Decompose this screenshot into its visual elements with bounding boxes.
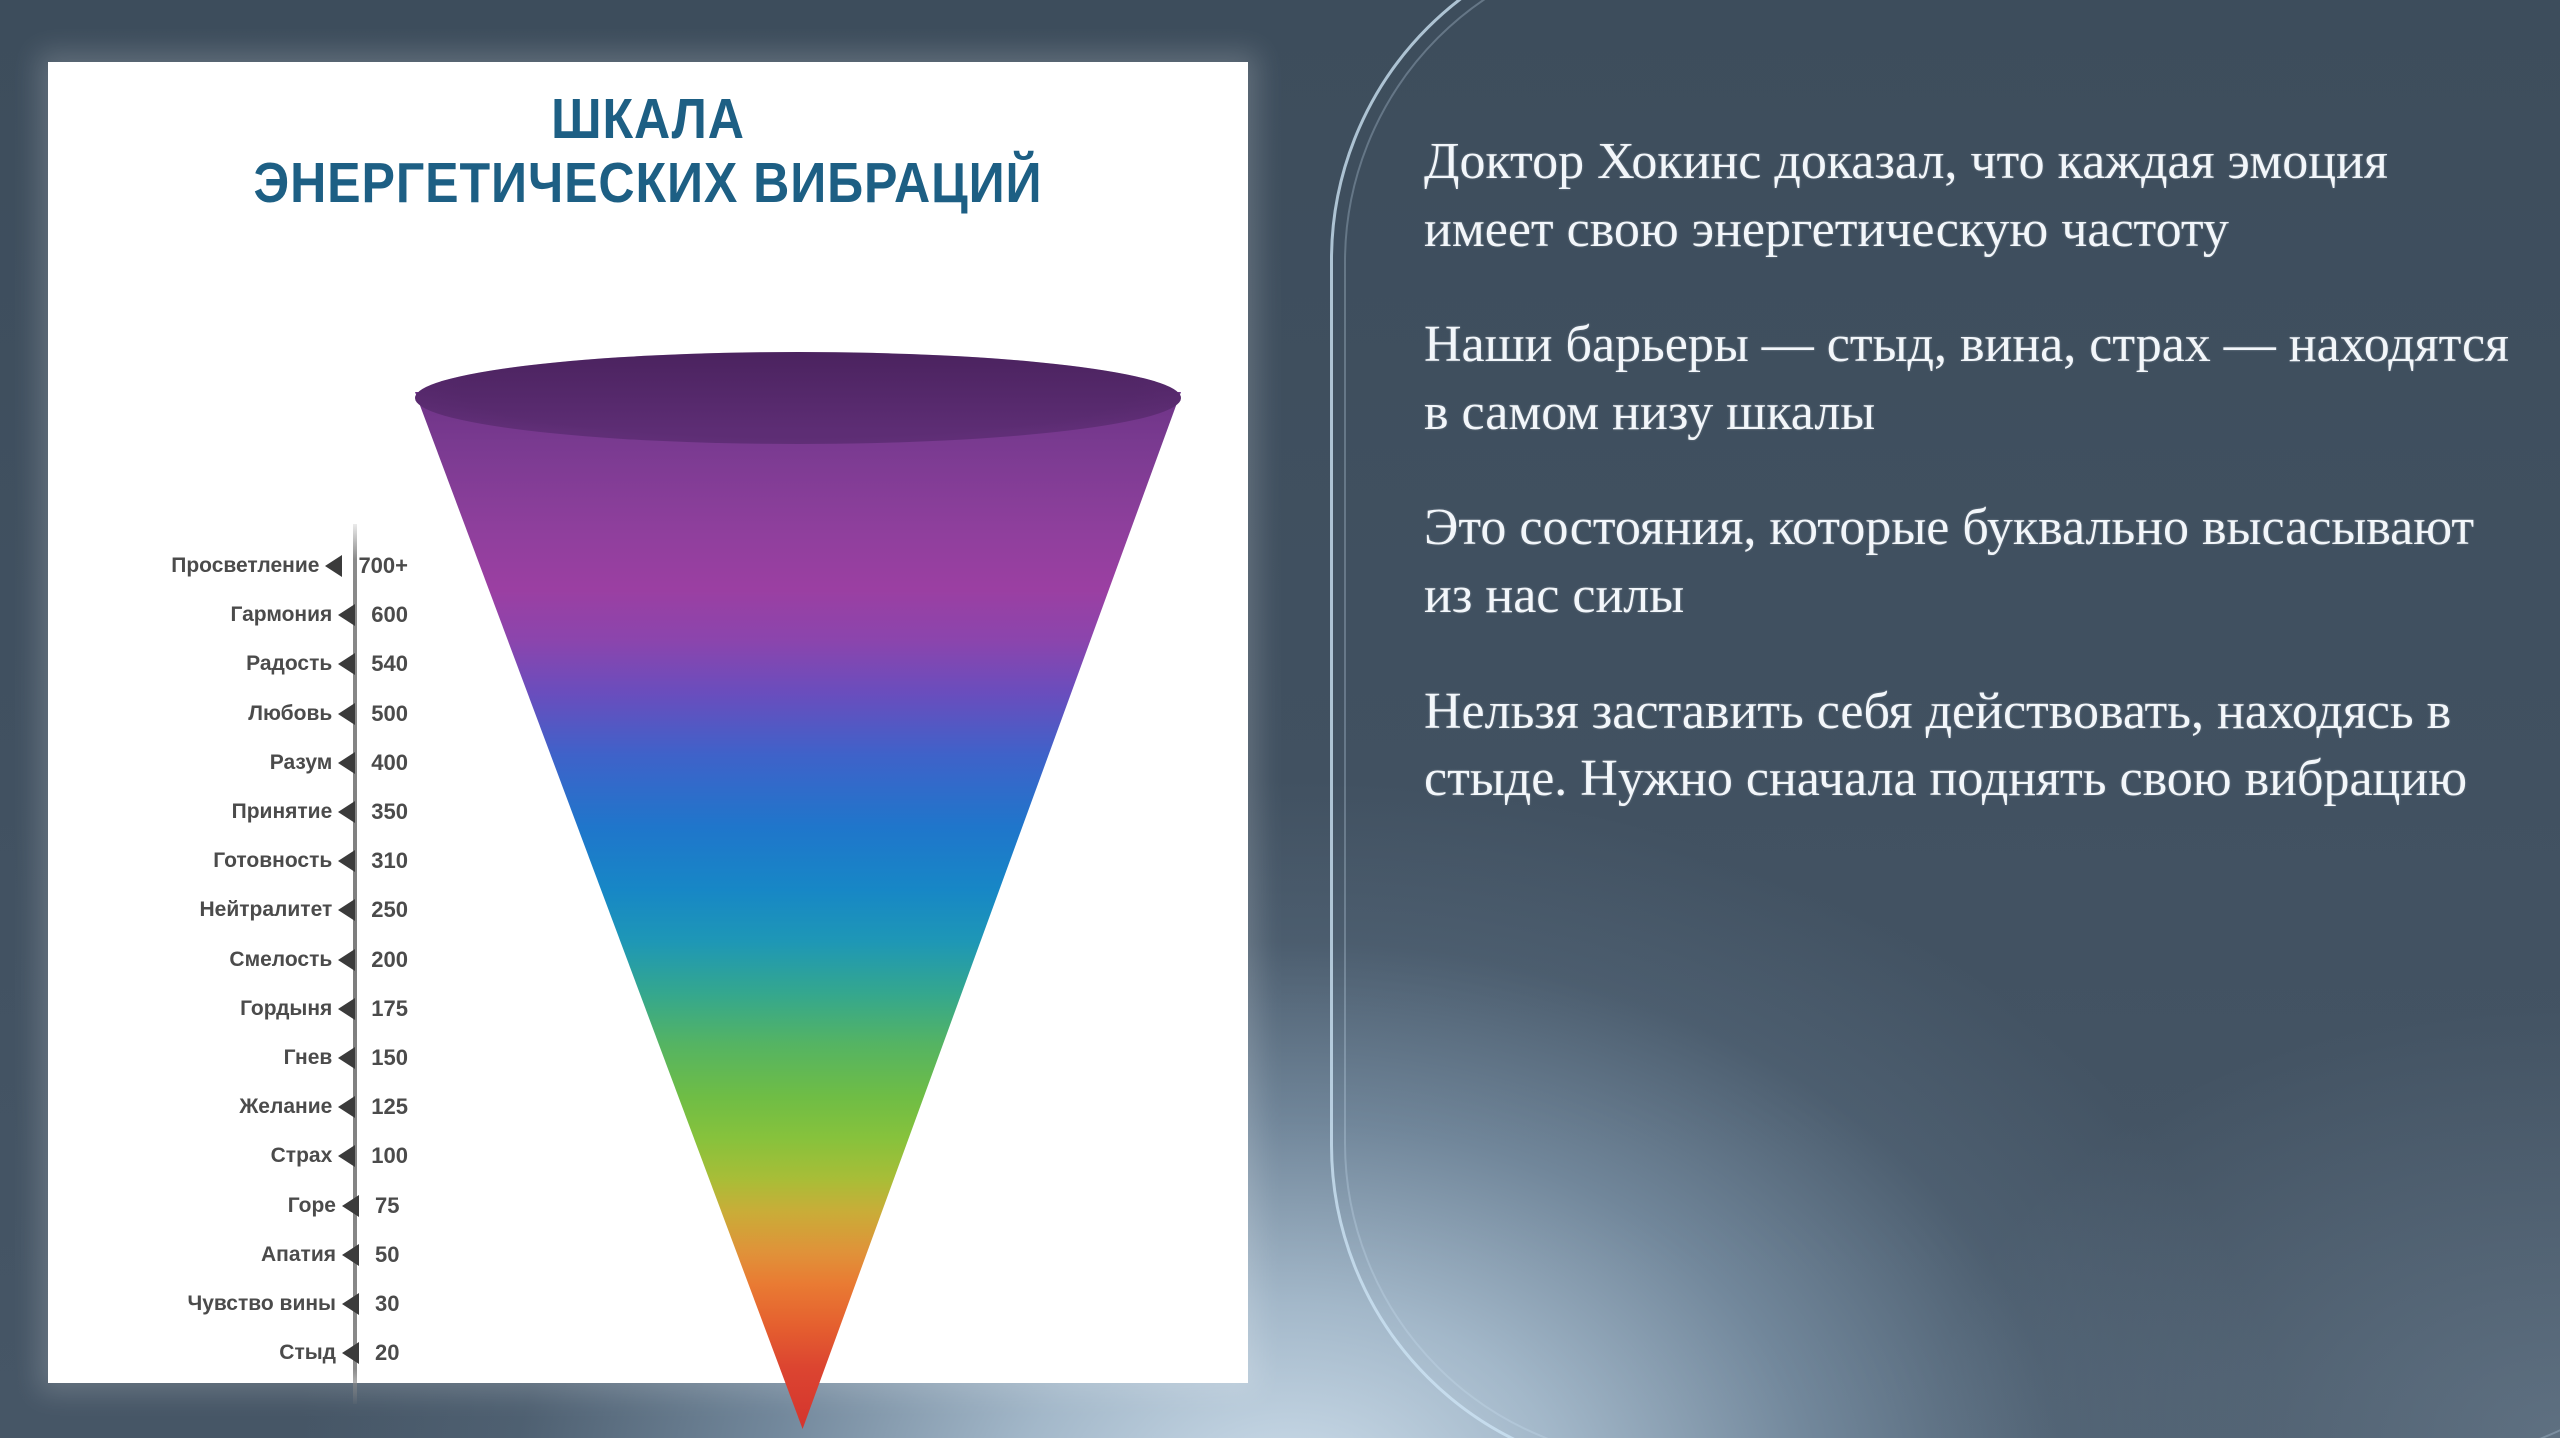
scale-row-label: Гордыня <box>108 997 340 1021</box>
scale-row-label: Любовь <box>108 702 340 726</box>
scale-row: Разум400 <box>108 748 408 778</box>
scale-pointer-icon <box>338 752 355 774</box>
scale-row-value: 75 <box>375 1193 399 1219</box>
scale-row-label: Разум <box>108 751 340 775</box>
scale-row-label: Радость <box>108 652 340 676</box>
scale-row: Горе75 <box>108 1191 408 1221</box>
scale-row: Любовь500 <box>108 699 408 729</box>
scale-row: Желание125 <box>108 1092 408 1122</box>
scale-row-value: 30 <box>375 1291 399 1317</box>
scale-row-label: Горе <box>108 1194 344 1218</box>
scale-row-label: Просветление <box>108 554 327 578</box>
cone-top-shading <box>415 352 1181 444</box>
scale-row-value: 250 <box>371 897 408 923</box>
scale-row-value: 175 <box>371 996 408 1022</box>
scale-row-value: 400 <box>371 750 408 776</box>
scale-row-label: Страх <box>108 1144 340 1168</box>
scale-row-label: Смелость <box>108 948 340 972</box>
scale-row-label: Гармония <box>108 603 340 627</box>
scale-pointer-icon <box>338 949 355 971</box>
scale-row-value: 700+ <box>358 553 408 579</box>
scale-row-value: 540 <box>371 651 408 677</box>
scale-row-value: 310 <box>371 848 408 874</box>
scale-pointer-icon <box>338 850 355 872</box>
scale-row: Гармония600 <box>108 600 408 630</box>
scale-pointer-icon <box>342 1293 359 1315</box>
scale-pointer-icon <box>338 653 355 675</box>
scale-row-label: Нейтралитет <box>108 898 340 922</box>
scale-row-label: Желание <box>108 1095 340 1119</box>
scale-pointer-icon <box>342 1195 359 1217</box>
scale-row: Апатия50 <box>108 1240 408 1270</box>
scale-row-label: Принятие <box>108 800 340 824</box>
scale-pointer-icon <box>338 1145 355 1167</box>
scale-row: Гордыня175 <box>108 994 408 1024</box>
scale-list: Просветление700+Гармония600Радость540Люб… <box>108 524 408 1404</box>
scale-row-value: 50 <box>375 1242 399 1268</box>
paragraph: Доктор Хокинс доказал, что каждая эмоция… <box>1424 128 2514 263</box>
scale-row-value: 200 <box>371 947 408 973</box>
scale-image-panel: ШКАЛА ЭНЕРГЕТИЧЕСКИХ ВИБРАЦИЙ Просветлен… <box>48 62 1248 1383</box>
scale-pointer-icon <box>342 1342 359 1364</box>
scale-pointer-icon <box>338 604 355 626</box>
paragraph: Нельзя заставить себя действовать, наход… <box>1424 678 2514 813</box>
scale-row: Нейтралитет250 <box>108 895 408 925</box>
scale-row: Просветление700+ <box>108 551 408 581</box>
scale-row-label: Чувство вины <box>108 1292 344 1316</box>
scale-row: Стыд20 <box>108 1338 408 1368</box>
paragraph: Наши барьеры — стыд, вина, страх — наход… <box>1424 311 2514 446</box>
text-column: Доктор Хокинс доказал, что каждая эмоция… <box>1424 128 2514 813</box>
scale-row-label: Стыд <box>108 1341 344 1365</box>
scale-pointer-icon <box>338 1096 355 1118</box>
scale-pointer-icon <box>338 801 355 823</box>
scale-row: Гнев150 <box>108 1043 408 1073</box>
scale-row-label: Апатия <box>108 1243 344 1267</box>
scale-row: Готовность310 <box>108 846 408 876</box>
scale-row-label: Гнев <box>108 1046 340 1070</box>
scale-row: Принятие350 <box>108 797 408 827</box>
scale-row: Радость540 <box>108 649 408 679</box>
scale-row: Смелость200 <box>108 945 408 975</box>
scale-pointer-icon <box>338 703 355 725</box>
scale-row-value: 500 <box>371 701 408 727</box>
scale-row-value: 350 <box>371 799 408 825</box>
cone-body <box>415 392 1181 1429</box>
scale-row-value: 100 <box>371 1143 408 1169</box>
scale-pointer-icon <box>338 899 355 921</box>
scale-row-value: 600 <box>371 602 408 628</box>
scale-row: Чувство вины30 <box>108 1289 408 1319</box>
scale-row-value: 125 <box>371 1094 408 1120</box>
scale-pointer-icon <box>325 555 342 577</box>
presentation-slide: ШКАЛА ЭНЕРГЕТИЧЕСКИХ ВИБРАЦИЙ Просветлен… <box>0 0 2560 1438</box>
scale-row-value: 150 <box>371 1045 408 1071</box>
scale-row: Страх100 <box>108 1141 408 1171</box>
scale-pointer-icon <box>338 998 355 1020</box>
scale-pointer-icon <box>342 1244 359 1266</box>
scale-row-value: 20 <box>375 1340 399 1366</box>
scale-pointer-icon <box>338 1047 355 1069</box>
scale-row-label: Готовность <box>108 849 340 873</box>
paragraph: Это состояния, которые буквально высасыв… <box>1424 494 2514 629</box>
